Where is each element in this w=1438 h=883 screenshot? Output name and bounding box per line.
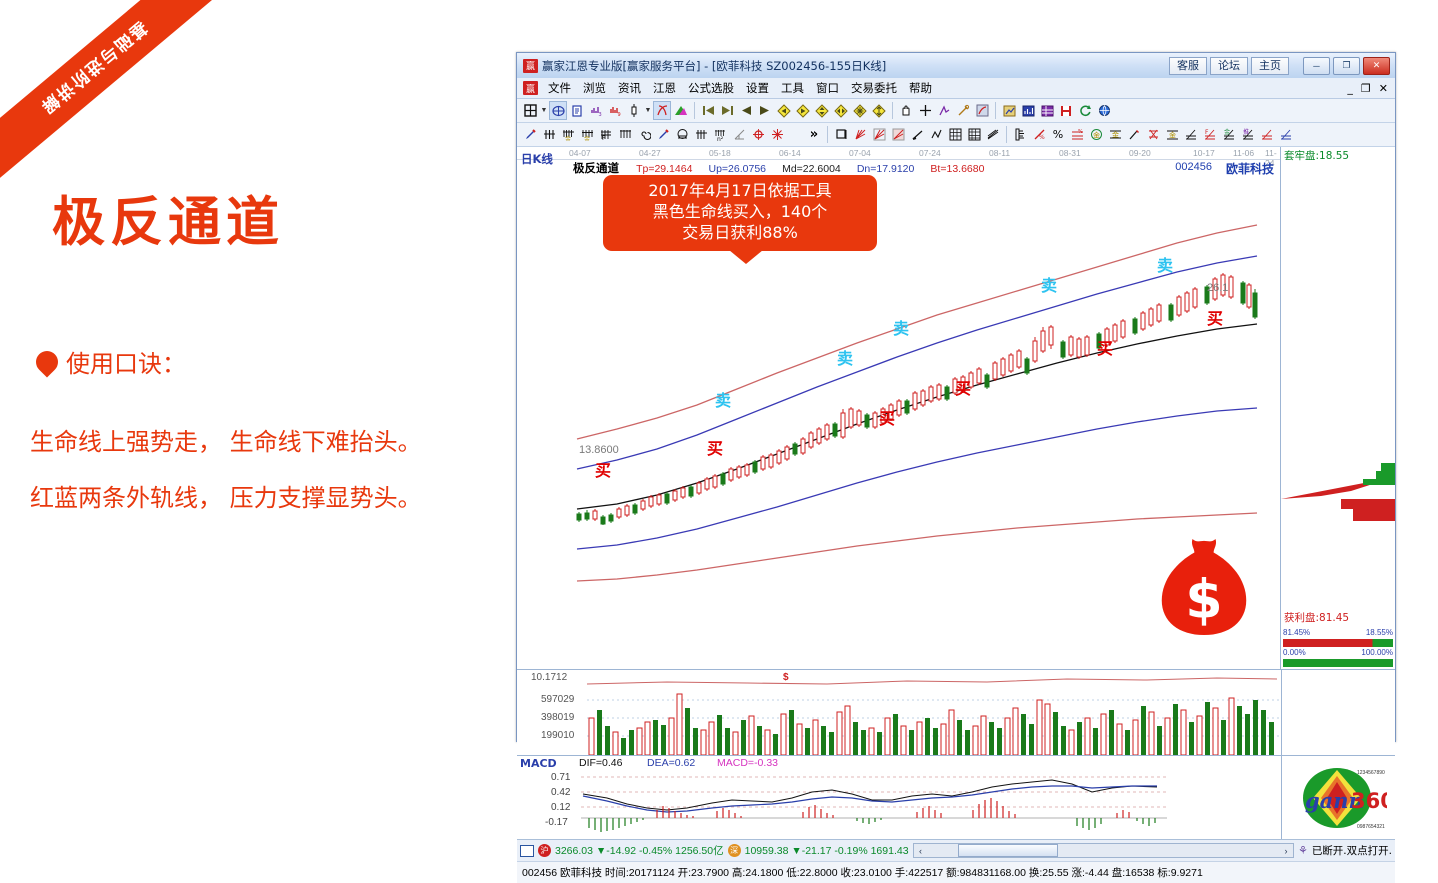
band-dn-line [577, 408, 1257, 549]
svg-text:金: 金 [1224, 128, 1230, 136]
toolbar-drawing: 金 金 F n² [517, 123, 1395, 147]
gann-grid-icon[interactable]: F [597, 125, 615, 144]
profit-pct-row: 81.45% 18.55% [1283, 628, 1393, 637]
slope-purple-icon[interactable]: 推 [1239, 125, 1257, 144]
menu-item-browse[interactable]: 浏览 [577, 78, 612, 98]
pen-icon[interactable] [521, 125, 539, 144]
status-bar-markets: 沪 3266.03 ▼-14.92 -0.45% 1256.50亿 深 1095… [517, 839, 1395, 861]
fan-shade-icon[interactable] [889, 125, 907, 144]
hand-icon[interactable] [897, 101, 915, 120]
menu-item-window[interactable]: 窗口 [810, 78, 845, 98]
calendar-dropdown-caret-icon[interactable]: ▼ [540, 107, 548, 114]
slope1-icon[interactable] [1182, 125, 1200, 144]
svg-text:金: 金 [584, 135, 590, 141]
slope-lines-icon[interactable] [984, 125, 1002, 144]
mdi-minimize-button[interactable]: _ [1344, 82, 1356, 95]
ribbon-label: 基础与进阶讲解 [35, 17, 153, 122]
menu-item-tools[interactable]: 工具 [775, 78, 810, 98]
profit-chips-label: 获利盘:81.45 [1284, 610, 1349, 625]
date-label: 11-06 [1233, 148, 1254, 158]
range-pct-left: 0.00% [1283, 648, 1306, 657]
pen-red-icon[interactable] [654, 125, 672, 144]
band-bt-line [577, 513, 1257, 581]
date-label: 05-18 [709, 148, 731, 158]
indicator-name: 极反通道 [573, 161, 619, 175]
marker-buy: 买 [595, 457, 611, 481]
date-label: 08-31 [1059, 148, 1081, 158]
title-bar: 赢 赢家江恩专业版[赢家服务平台] - [欧菲科技 SZ002456-155日K… [517, 53, 1395, 78]
indicator-tp: Tp=29.1464 [636, 163, 692, 175]
bar9-icon[interactable]: 9 [606, 101, 624, 120]
menu-item-file[interactable]: 文件 [542, 78, 577, 98]
chip-distribution-panel: 套牢盘:18.55 获利盘:81.45 81.45% 18.55% 0.00% … [1281, 147, 1395, 669]
volume-right-gutter [1281, 670, 1395, 755]
price-label-high: 26.1 [1207, 282, 1228, 294]
grid-view-icon[interactable] [520, 845, 534, 857]
title-bar-actions: 客服 论坛 主页 ─ ❐ ✕ [1169, 57, 1393, 75]
candles [577, 273, 1257, 525]
connection-status-text[interactable]: 已断开.双点打开. [1312, 843, 1392, 858]
marker-buy: 买 [1097, 335, 1113, 359]
diamond-leftright-icon[interactable] [832, 101, 850, 120]
menu-bar: 赢 文件 浏览 资讯 江恩 公式选股 设置 工具 窗口 交易委托 帮助 _ ❐ … [517, 78, 1395, 99]
callout-line-1: 2017年4月17日依据工具 [607, 180, 873, 201]
shenzhen-index-icon: 深 [728, 844, 741, 857]
mdi-close-button[interactable]: ✕ [1376, 82, 1391, 95]
range-pct-right: 100.00% [1361, 648, 1393, 657]
price-label-low: 13.8600 [579, 444, 619, 456]
indicator-up: Up=26.0756 [708, 163, 766, 175]
svg-text:金: 金 [1169, 131, 1176, 140]
svg-text:1234567890: 1234567890 [1357, 770, 1385, 776]
svg-text:金: 金 [1112, 130, 1119, 139]
price-chart-panel[interactable]: 04-07 04-27 05-18 06-14 07-04 07-24 08-1… [517, 147, 1281, 669]
angle-icon[interactable] [730, 125, 748, 144]
calendar-icon[interactable] [521, 101, 539, 120]
menu-item-news[interactable]: 资讯 [612, 78, 647, 98]
pen-gold-icon[interactable] [1125, 125, 1143, 144]
macd-panel[interactable]: MACD DIF=0.46 DEA=0.62 MACD=-0.33 0.71 0… [517, 755, 1395, 839]
marker-sell: 卖 [893, 315, 909, 339]
zigzag-icon[interactable] [927, 125, 945, 144]
date-label: 07-04 [849, 148, 871, 158]
pct-line-icon[interactable]: % [1068, 125, 1086, 144]
pin-marker-icon [31, 346, 62, 377]
line-pen-icon[interactable] [908, 125, 926, 144]
toolbar-primary: ▼ 3 9 ▼ [517, 99, 1395, 123]
network-icon[interactable] [549, 101, 567, 120]
menu-item-gann[interactable]: 江恩 [647, 78, 682, 98]
quote-detail-text: 002456 欧菲科技 时间:20171124 开:23.7900 高:24.1… [522, 865, 1203, 880]
forum-button[interactable]: 论坛 [1210, 57, 1248, 75]
menu-item-settings[interactable]: 设置 [740, 78, 775, 98]
svg-text:金: 金 [1093, 131, 1100, 140]
spectrum-icon[interactable] [672, 101, 690, 120]
date-label: 10-17 [1193, 148, 1215, 158]
svg-text:推: 推 [1243, 128, 1249, 136]
document-icon[interactable] [568, 101, 586, 120]
diamond-right-icon[interactable] [794, 101, 812, 120]
circle-hatch-icon[interactable] [673, 125, 691, 144]
shanghai-index-icon: 沪 [538, 844, 551, 857]
grid-lines-icon[interactable] [692, 125, 710, 144]
grid-frame2-icon[interactable] [965, 125, 983, 144]
ruler-icon[interactable] [1011, 125, 1029, 144]
refresh-icon[interactable] [1076, 101, 1094, 120]
mdi-restore-button[interactable]: ❐ [1358, 82, 1374, 95]
svg-text:F: F [1205, 129, 1209, 136]
menu-item-formula-screen[interactable]: 公式选股 [682, 78, 740, 98]
customer-service-button[interactable]: 客服 [1169, 57, 1207, 75]
marker-buy: 买 [955, 375, 971, 399]
menu-item-help[interactable]: 帮助 [903, 78, 938, 98]
slope-green-icon[interactable]: 金 [1220, 125, 1238, 144]
diamond-star-icon[interactable] [851, 101, 869, 120]
volume-bars [517, 670, 1281, 756]
scroll-left-arrow-icon[interactable]: ‹ [914, 844, 928, 857]
indicator-dn: Dn=17.9120 [857, 163, 915, 175]
annotation-callout: 2017年4月17日依据工具 黑色生命线买入，140个 交易日获利88% [603, 175, 877, 251]
dollar-symbol: $ [1185, 568, 1222, 631]
usage-heading-row: 使用口诀： [36, 344, 186, 379]
marker-buy: 买 [1207, 305, 1223, 329]
poster-title: 极反通道 [52, 180, 284, 256]
last-page-icon[interactable] [718, 101, 736, 120]
gann-fan2-icon[interactable]: 金 [578, 125, 596, 144]
status-bar-quote-detail: 002456 欧菲科技 时间:20171124 开:23.7900 高:24.1… [517, 861, 1395, 883]
cross-red-icon[interactable] [1144, 125, 1162, 144]
callout-line-3: 交易日获利88% [607, 222, 873, 243]
verse-line-2: 红蓝两条外轨线， 压力支撑显势头。 [30, 478, 422, 513]
brand-logo-panel: gann 360 1234567890 0987654321 [1281, 756, 1395, 839]
date-label: 04-07 [569, 148, 591, 158]
pointer-icon[interactable] [935, 101, 953, 120]
grid-frame-icon[interactable] [946, 125, 964, 144]
menu-logo-icon: 赢 [523, 81, 538, 95]
svg-text:%: % [1039, 134, 1045, 141]
fan-red-icon[interactable] [851, 125, 869, 144]
window-title: 赢家江恩专业版[赢家服务平台] - [欧菲科技 SZ002456-155日K线] [542, 58, 886, 74]
profit-pct-left: 81.45% [1283, 628, 1310, 637]
gann360-logo-icon: gann 360 1234567890 0987654321 [1291, 762, 1387, 834]
marker-sell: 卖 [715, 387, 731, 411]
stock-name-label: 欧菲科技 [1226, 160, 1274, 177]
next-icon[interactable] [756, 101, 774, 120]
corner-ribbon: 基础与进阶讲解 [0, 0, 254, 209]
date-label: 07-24 [919, 148, 941, 158]
fork-icon[interactable] [540, 125, 558, 144]
shenzhen-index-quote: 10959.38 ▼-21.17 -0.19% 1691.43 [745, 845, 909, 857]
band-up-line [577, 256, 1257, 469]
marker-sell: 卖 [1157, 252, 1173, 276]
diamond-left-icon[interactable] [775, 101, 793, 120]
gold-circle-icon[interactable]: 金 [1087, 125, 1105, 144]
logo-text-360: 360 [1351, 789, 1387, 813]
chart-report-icon[interactable] [1019, 101, 1037, 120]
marker-sell: 卖 [1041, 272, 1057, 296]
chart-blue-icon[interactable] [1000, 101, 1018, 120]
date-axis: 04-07 04-27 05-18 06-14 07-04 07-24 08-1… [517, 147, 1280, 160]
macd-plot [517, 756, 1167, 840]
svg-text:金: 金 [565, 135, 571, 141]
indicator-md: Md=22.6004 [782, 163, 841, 175]
chart-region: 04-07 04-27 05-18 06-14 07-04 07-24 08-1… [517, 147, 1395, 669]
crosshair-icon[interactable] [916, 101, 934, 120]
prev-icon[interactable] [737, 101, 755, 120]
connection-status-icon: ⚘ [1298, 844, 1308, 857]
slope-blue-icon[interactable] [1277, 125, 1295, 144]
app-logo-icon: 赢 [523, 59, 538, 73]
first-page-icon[interactable] [699, 101, 717, 120]
scrollbar-thumb[interactable] [958, 844, 1058, 857]
percent-red-icon[interactable]: % [1030, 125, 1048, 144]
homepage-button[interactable]: 主页 [1251, 57, 1289, 75]
band-md-lifeline [577, 324, 1257, 509]
svg-text:F: F [602, 135, 606, 141]
profit-pct-right: 18.55% [1366, 628, 1393, 637]
diamond-move-icon[interactable] [870, 101, 888, 120]
chip-distribution-histogram [1281, 147, 1395, 667]
bar3-icon[interactable]: 3 [587, 101, 605, 120]
volume-panel[interactable]: 10.1712 597029 398019 199010 $ [517, 669, 1395, 755]
usage-heading-label: 使用口诀： [66, 344, 186, 379]
svg-text:n²: n² [717, 136, 724, 141]
magic-icon[interactable] [954, 101, 972, 120]
slopeF-icon[interactable]: F [1201, 125, 1219, 144]
diamond-updown-icon[interactable] [813, 101, 831, 120]
slope-red-icon[interactable] [1258, 125, 1276, 144]
marker-sell: 卖 [837, 345, 853, 369]
gold-bar-icon[interactable]: 金 [1106, 125, 1124, 144]
date-label: 09-20 [1129, 148, 1151, 158]
horizontal-scrollbar[interactable]: ‹ › [913, 843, 1294, 858]
percent-sign-icon[interactable]: % [1049, 125, 1067, 144]
svg-text:3: 3 [598, 112, 601, 117]
mdi-window-controls: _ ❐ ✕ [1344, 82, 1395, 95]
globe-icon[interactable] [1095, 101, 1113, 120]
svg-text:%: % [1078, 129, 1083, 135]
close-button[interactable]: ✕ [1363, 57, 1390, 75]
shanghai-index-quote: 3266.03 ▼-14.92 -0.45% 1256.50亿 [555, 843, 724, 858]
range-pct-row: 0.00% 100.00% [1283, 648, 1393, 657]
money-bag-dollar-icon: $ [1156, 535, 1252, 639]
candle-icon[interactable] [625, 101, 643, 120]
callout-line-2: 黑色生命线买入，140个 [607, 201, 873, 222]
speed-fan-icon[interactable] [616, 125, 634, 144]
verse-line-1: 生命线上强势走， 生命线下难抬头。 [30, 422, 422, 457]
overflow-chevrons-icon[interactable]: » [805, 125, 823, 144]
chart-table-icon[interactable] [1038, 101, 1056, 120]
square-icon[interactable] [832, 125, 850, 144]
poster-panel: 基础与进阶讲解 极反通道 使用口诀： 生命线上强势走， 生命线下难抬头。 红蓝两… [0, 0, 516, 810]
formula-icon[interactable] [653, 101, 671, 120]
indicator-readout: 极反通道 Tp=29.1464 Up=26.0756 Md=22.6004 Dn… [517, 160, 1280, 176]
stock-code-label: 002456 [1175, 161, 1212, 173]
maximize-button[interactable]: ❐ [1333, 57, 1360, 75]
range-ratio-bar [1283, 659, 1393, 667]
gann-fan-gold-icon[interactable]: 金 [559, 125, 577, 144]
save-icon[interactable] [1057, 101, 1075, 120]
date-label: 08-11 [989, 148, 1010, 158]
menu-item-trade[interactable]: 交易委托 [845, 78, 903, 98]
application-window: 赢 赢家江恩专业版[赢家服务平台] - [欧菲科技 SZ002456-155日K… [516, 52, 1396, 742]
date-label: 06-14 [779, 148, 801, 158]
scroll-right-arrow-icon[interactable]: › [1279, 844, 1293, 857]
asterisk-icon[interactable] [768, 125, 786, 144]
n2-icon[interactable]: n² [711, 125, 729, 144]
gold-icon[interactable]: 金 [1163, 125, 1181, 144]
fan-block-icon[interactable] [870, 125, 888, 144]
candle-dropdown-caret-icon[interactable]: ▼ [644, 107, 652, 114]
svg-text:9: 9 [617, 112, 620, 117]
marker-buy: 买 [707, 435, 723, 459]
minimize-button[interactable]: ─ [1303, 57, 1330, 75]
profit-ratio-bar [1283, 639, 1393, 647]
svg-text:0987654321: 0987654321 [1357, 824, 1385, 830]
indicator-bt: Bt=13.6680 [930, 163, 984, 175]
target-icon[interactable] [749, 125, 767, 144]
marker-buy: 买 [879, 405, 895, 429]
date-label: 04-27 [639, 148, 661, 158]
spiral-icon[interactable] [635, 125, 653, 144]
palette-icon[interactable] [973, 101, 991, 120]
